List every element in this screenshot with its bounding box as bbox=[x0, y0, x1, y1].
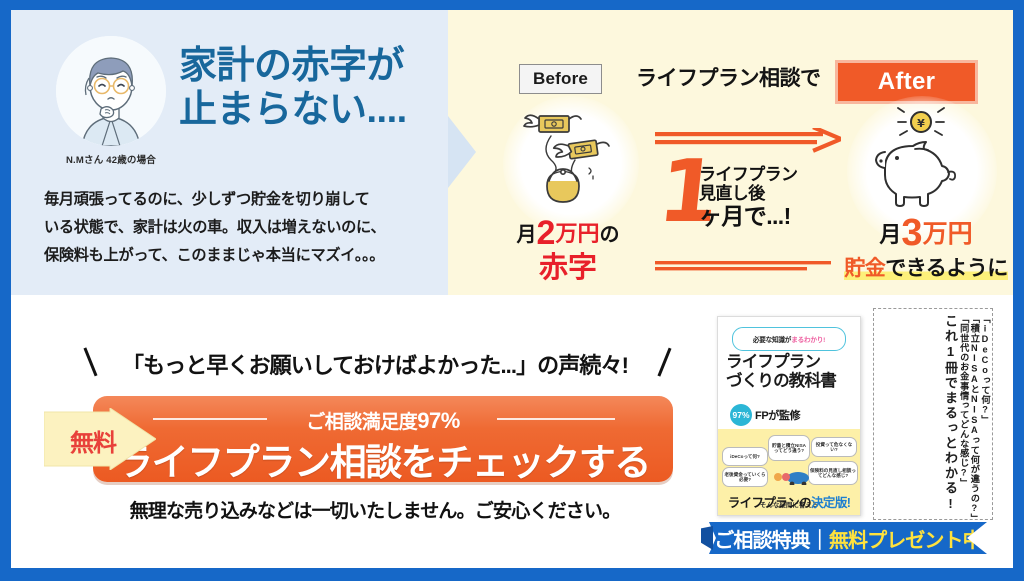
quote-line-3: 保険料も上がって、このままじゃ本当にマズイ。。。 bbox=[44, 242, 444, 270]
duration-line-3: ヶ月で...! bbox=[699, 204, 829, 230]
book-footer-main: ライフプランの決定版! bbox=[718, 492, 860, 511]
book-mini-bubble: 老後資金っていくら必要? bbox=[722, 467, 768, 487]
vertical-line-4: これ1冊でまるっとわかる! bbox=[943, 314, 957, 512]
panel-chevron-pointer bbox=[448, 116, 476, 188]
duration-line-1: ライフプラン bbox=[699, 165, 829, 184]
headline-line-1: 家計の赤字が bbox=[179, 45, 404, 87]
book-mini-bubble: 貯蓄と積立NISAってどう違う? bbox=[768, 435, 810, 461]
cta-satisfaction-label: ご相談満足度 bbox=[306, 412, 417, 433]
customer-quote: 毎月頑張ってるのに、少しずつ貯金を切り崩して いる状態で、家計は火の車。収入は増… bbox=[44, 186, 444, 270]
book-bubble-highlight: まるわかり! bbox=[791, 334, 825, 344]
consultation-label: ライフプラン相談で bbox=[636, 62, 821, 92]
reassurance-text: 無理な売り込みなどは一切いたしません。ご安心ください。 bbox=[75, 496, 675, 523]
frame-right-border bbox=[1013, 0, 1024, 581]
avatar: N.Mさん 42歳の場合 bbox=[51, 36, 171, 176]
book-mini-bubble: 保険料の見直し相談ってどんな感じ? bbox=[808, 461, 858, 485]
before-suffix: の bbox=[599, 224, 619, 246]
bottom-section: 「もっと早くお願いしておけばよかった...」の声続々! ご相談満足度97% ライ… bbox=[11, 300, 1013, 568]
book-supervisor-label: FPが監修 bbox=[755, 407, 800, 423]
cta-button-label: ライフプラン相談をチェックする bbox=[93, 432, 673, 486]
after-number: 3 bbox=[901, 212, 922, 254]
after-prefix: 月 bbox=[879, 222, 901, 247]
book-mini-bubble: iDeCoって何? bbox=[722, 447, 768, 466]
book-bubble: 必要な知識がまるわかり! bbox=[732, 327, 846, 351]
vertical-text-block: 「iDeCoって何?」 「積立NISAとNISAって何が違うの?」 「同世代のお… bbox=[875, 314, 989, 512]
gift-ribbon-tail bbox=[701, 526, 713, 550]
avatar-caption: N.Mさん 42歳の場合 bbox=[51, 152, 171, 166]
book-mini-bubble: 投資って危なくない? bbox=[811, 437, 857, 457]
frame-top-border bbox=[0, 0, 1024, 10]
svg-text:¥: ¥ bbox=[917, 117, 925, 130]
before-result: 月2万円の 赤字 bbox=[493, 215, 643, 285]
avatar-image bbox=[56, 36, 166, 146]
progress-underline bbox=[655, 258, 831, 268]
book-title: ライフプラン づくりの教科書 bbox=[726, 353, 852, 392]
book-cover: 必要な知識がまるわかり! ライフプラン づくりの教科書 97% FPが監修 iD… bbox=[717, 316, 861, 516]
vertical-line-2: 「積立NISAとNISAって何が違うの?」 bbox=[969, 314, 979, 512]
after-result: 月3万円 貯金できるように bbox=[831, 213, 1021, 280]
after-unit: 万円 bbox=[923, 220, 973, 248]
after-result-highlight: 貯金 bbox=[844, 257, 885, 280]
book-bubble-prefix: 必要な知識が bbox=[753, 334, 791, 344]
vertical-line-1: 「iDeCoって何?」 bbox=[979, 314, 989, 512]
duration-line-2: 見直し後 bbox=[699, 184, 829, 203]
gift-book-block: 必要な知識がまるわかり! ライフプラン づくりの教科書 97% FPが監修 iD… bbox=[701, 304, 1001, 566]
cta-satisfaction-value: 97% bbox=[417, 408, 460, 433]
after-result-rest: できるように bbox=[885, 257, 1008, 280]
vertical-line-3: 「同世代のお金事情ってどんな感じ?」 bbox=[958, 314, 968, 512]
book-footer-main-accent: 決定版! bbox=[811, 496, 850, 510]
page-title: 家計の赤字が 止まらない.... bbox=[179, 44, 441, 132]
quote-line-2: いる状態で、家計は火の車。収入は増えないのに、 bbox=[44, 214, 444, 242]
gift-ribbon-yellow: 無料プレゼント中 bbox=[829, 530, 982, 552]
before-unit: 万円 bbox=[555, 221, 599, 246]
family-car-icon bbox=[770, 469, 810, 485]
book-satisfaction-badge: 97% bbox=[730, 404, 752, 426]
testimonial-text: 「もっと早くお願いしておけばよかった...」の声続々! bbox=[75, 348, 675, 380]
book-title-line-1: ライフプラン bbox=[726, 353, 820, 371]
top-section: N.Mさん 42歳の場合 家計の赤字が 止まらない.... 毎月頑張ってるのに、… bbox=[11, 10, 1013, 295]
before-badge: Before bbox=[519, 64, 602, 94]
frame-left-border bbox=[0, 0, 11, 581]
book-title-line-2: づくりの教科書 bbox=[726, 372, 836, 390]
quote-line-1: 毎月頑張ってるのに、少しずつ貯金を切り崩して bbox=[44, 186, 444, 214]
after-result-line: 貯金できるように bbox=[831, 257, 1021, 280]
flying-money-wallet-icon bbox=[509, 102, 633, 222]
frame-bottom-border bbox=[0, 568, 1024, 581]
cta-satisfaction: ご相談満足度97% bbox=[93, 407, 673, 434]
gift-ribbon-text: ご相談特典｜無料プレゼント中 bbox=[714, 524, 981, 553]
lifeplan-consultation-cta-button[interactable]: ご相談満足度97% ライフプラン相談をチェックする 無料 bbox=[93, 396, 673, 482]
free-tag-label: 無料 bbox=[57, 423, 129, 458]
gift-ribbon: ご相談特典｜無料プレゼント中 bbox=[709, 522, 987, 554]
worried-woman-avatar-icon bbox=[56, 36, 166, 146]
piggy-bank-coin-icon: ¥ bbox=[859, 102, 983, 222]
before-result-label: 赤字 bbox=[493, 253, 643, 285]
gift-ribbon-white: ご相談特典｜ bbox=[714, 530, 829, 552]
book-supervisor: 97% FPが監修 bbox=[730, 403, 850, 427]
duration-text: ライフプラン 見直し後 ヶ月で...! bbox=[699, 165, 829, 230]
before-prefix: 月 bbox=[517, 224, 537, 246]
book-footer-main-text: ライフプランの bbox=[728, 496, 811, 510]
before-number: 2 bbox=[537, 214, 556, 252]
headline-line-2: 止まらない.... bbox=[179, 88, 441, 132]
advertisement-banner: N.Mさん 42歳の場合 家計の赤字が 止まらない.... 毎月頑張ってるのに、… bbox=[0, 0, 1024, 581]
